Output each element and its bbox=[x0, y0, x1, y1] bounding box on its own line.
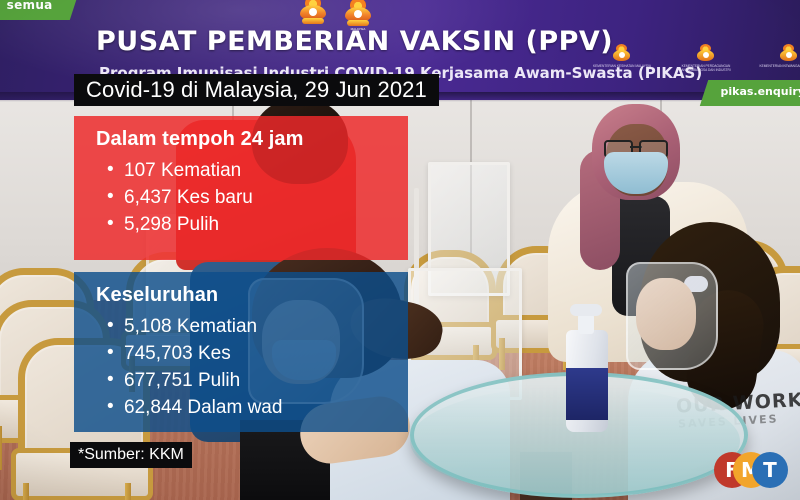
list-item: 62,844 Dalam wad bbox=[124, 394, 392, 421]
ministry-crest-icon: KEMENTERIAN PERDAGANGAN ANTARABANGSA DAN… bbox=[697, 44, 714, 64]
headline-text: Covid-19 di Malaysia, 29 Jun 2021 bbox=[86, 77, 427, 103]
list-item: 5,298 Pulih bbox=[124, 211, 392, 238]
fmt-logo: F M T bbox=[714, 452, 788, 488]
sanitizer-bottle-label bbox=[566, 368, 608, 420]
infographic-canvas: OUR WORK SAVES LIVES MALAYSIA KEMENTERIA… bbox=[0, 0, 800, 500]
cumulative-stats-box: Keseluruhan 5,108 Kematian 745,703 Kes 6… bbox=[74, 272, 408, 432]
seated-person-face-shield bbox=[626, 262, 718, 370]
headline-bar: Covid-19 di Malaysia, 29 Jun 2021 bbox=[74, 74, 439, 106]
list-item: 107 Kematian bbox=[124, 157, 392, 184]
cumulative-stats-list: 5,108 Kematian 745,703 Kes 677,751 Pulih… bbox=[90, 313, 392, 421]
malaysia-crest-icon bbox=[300, 0, 326, 28]
source-text: *Sumber: KKM bbox=[78, 446, 184, 464]
green-tab-left-text: semua bbox=[7, 0, 53, 12]
daily-stats-box: Dalam tempoh 24 jam 107 Kematian 6,437 K… bbox=[74, 116, 408, 260]
sanitizer-pump bbox=[570, 304, 602, 316]
cumulative-stats-heading: Keseluruhan bbox=[96, 284, 392, 307]
fmt-logo-letter-t: T bbox=[752, 452, 788, 488]
list-item: 6,437 Kes baru bbox=[124, 184, 392, 211]
source-bar: *Sumber: KKM bbox=[70, 442, 192, 468]
green-tab-right: pikas.enquiry@ bbox=[700, 80, 800, 106]
daily-stats-list: 107 Kematian 6,437 Kes baru 5,298 Pulih bbox=[90, 157, 392, 238]
list-item: 677,751 Pulih bbox=[124, 367, 392, 394]
ministry-caption: KEMENTERIAN KEWANGAN MALAYSIA bbox=[759, 64, 800, 68]
daily-stats-heading: Dalam tempoh 24 jam bbox=[96, 128, 392, 151]
green-tab-left: semua bbox=[0, 0, 78, 20]
list-item: 745,703 Kes bbox=[124, 340, 392, 367]
ministry-crest-icon: KEMENTERIAN KEWANGAN MALAYSIA bbox=[780, 44, 797, 64]
list-item: 5,108 Kematian bbox=[124, 313, 392, 340]
sanitizer-bottle-neck bbox=[578, 314, 594, 334]
banner-title: PUSAT PEMBERIAN VAKSIN (PPV) bbox=[96, 26, 616, 57]
green-tab-right-text: pikas.enquiry@ bbox=[720, 85, 800, 98]
